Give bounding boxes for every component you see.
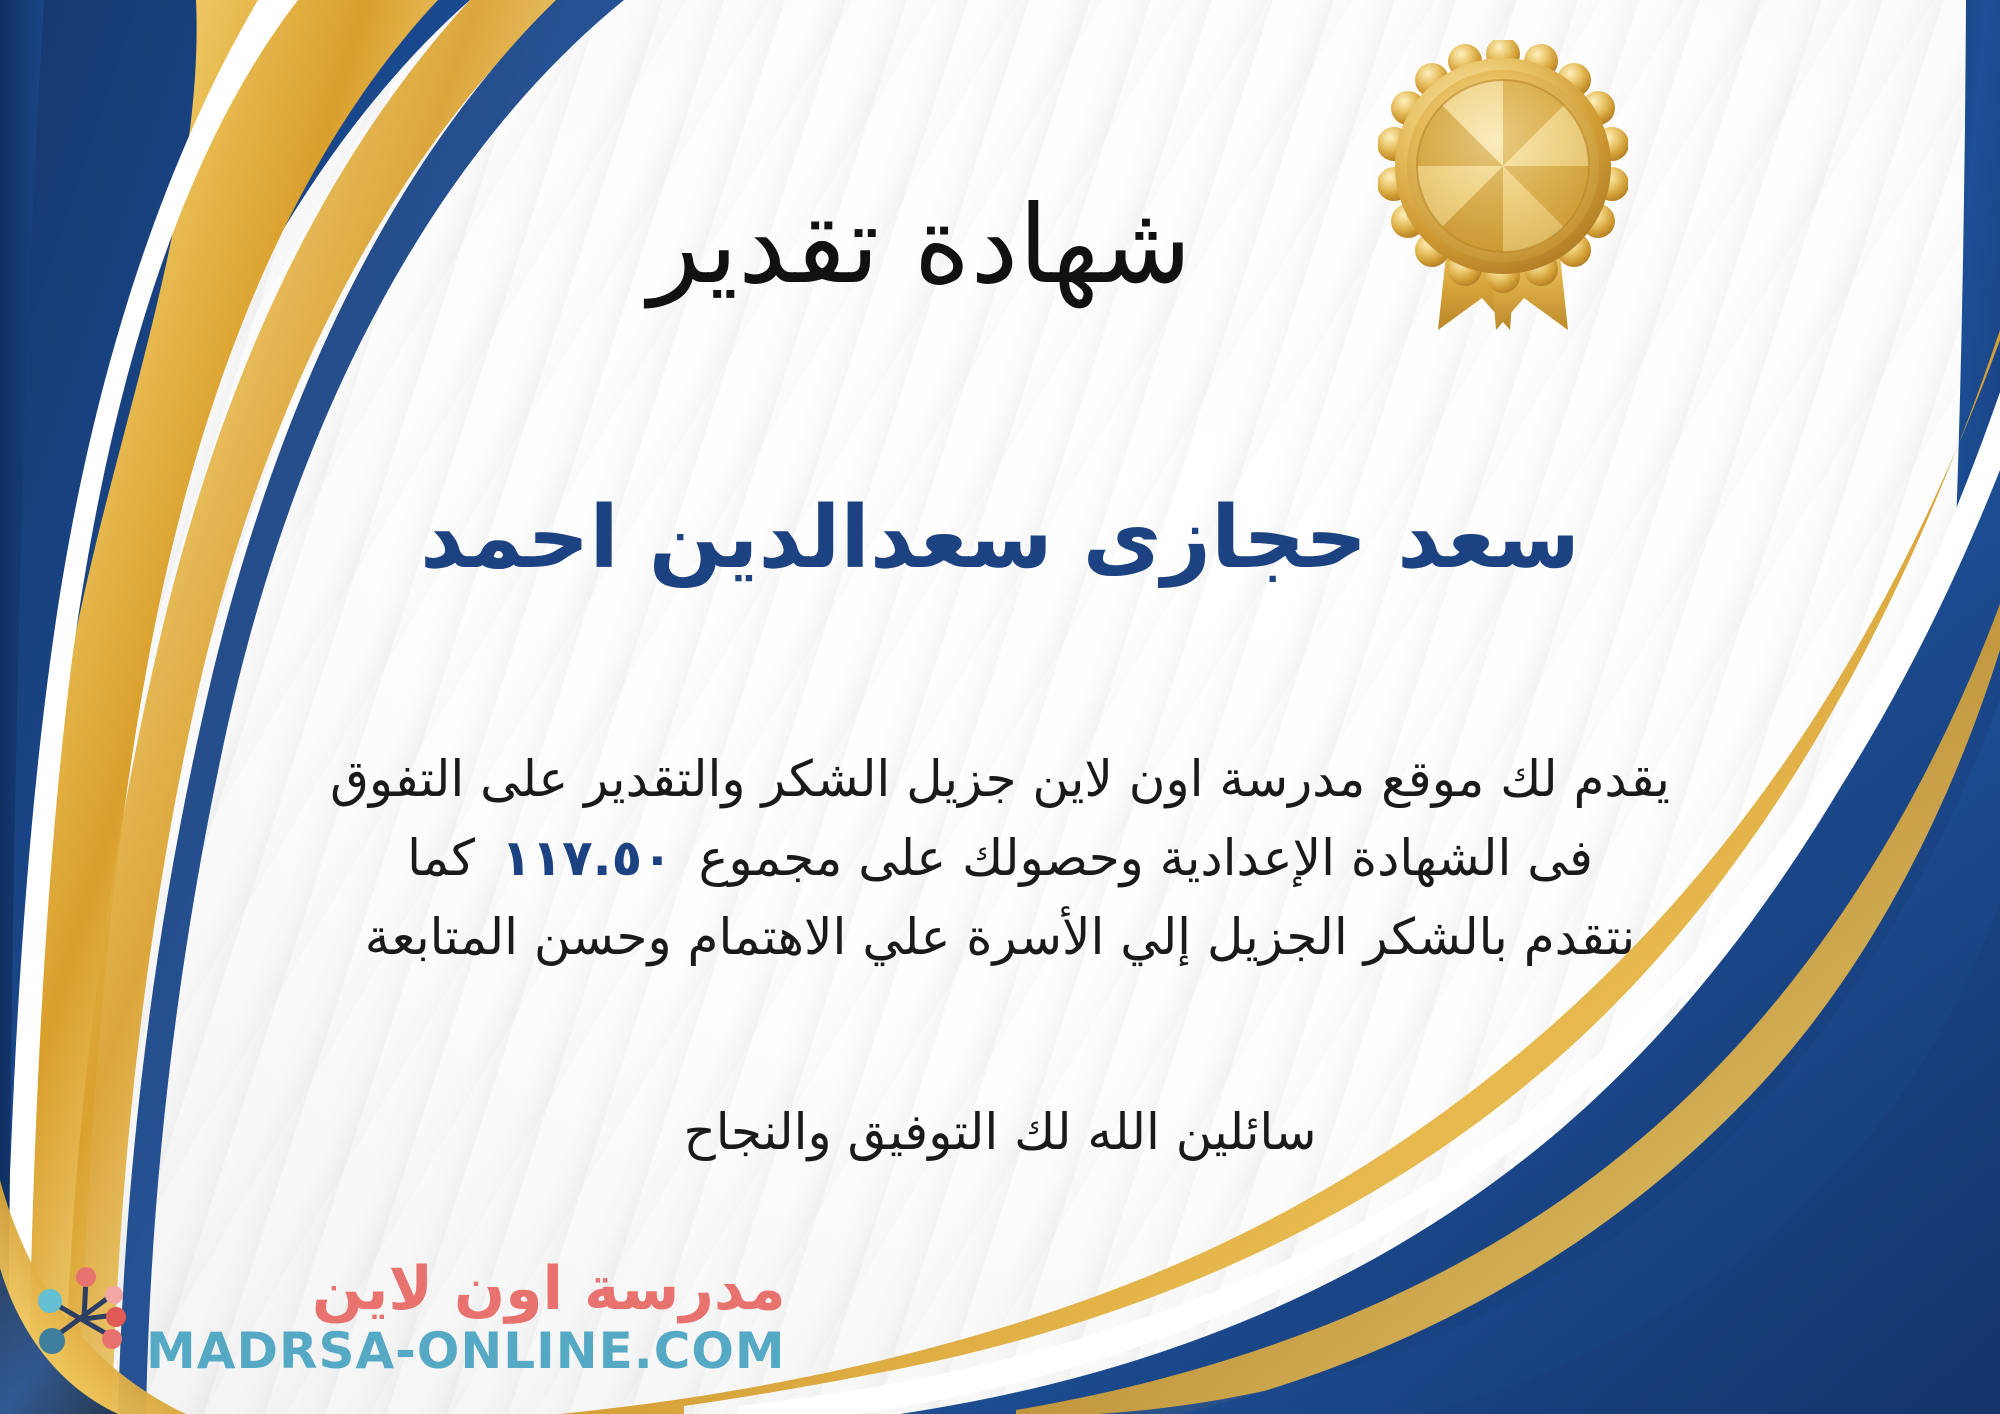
gold-medal-rosette-icon: [1378, 40, 1628, 330]
brand-text: مدرسة اون لاين MADRSA-ONLINE.COM: [146, 1259, 786, 1378]
brand-name-arabic: مدرسة اون لاين: [312, 1259, 786, 1319]
certificate-title: شهادة تقدير: [0, 182, 2000, 309]
brand-logo[interactable]: مدرسة اون لاين MADRSA-ONLINE.COM: [28, 1259, 786, 1378]
body-line-3: نتقدم بالشكر الجزيل إلي الأسرة علي الاهت…: [58, 898, 1942, 977]
body-line-2-suffix: كما: [407, 829, 475, 887]
certificate-body: يقدم لك موقع مدرسة اون لاين جزيل الشكر و…: [58, 740, 1942, 977]
network-nodes-icon: [28, 1265, 136, 1373]
certificate-canvas: شهادة تقدير سعد حجازى سعدالدين احمد يقدم…: [0, 0, 2000, 1414]
body-line-2-prefix: فى الشهادة الإعدادية وحصولك على مجموع: [699, 829, 1593, 887]
recipient-name: سعد حجازى سعدالدين احمد: [0, 485, 2000, 593]
brand-website-url[interactable]: MADRSA-ONLINE.COM: [146, 1325, 786, 1378]
body-line-1: يقدم لك موقع مدرسة اون لاين جزيل الشكر و…: [58, 740, 1942, 819]
total-score-value: ١١٧.٥٠: [475, 829, 699, 887]
closing-wish: سائلين الله لك التوفيق والنجاح: [0, 1095, 2000, 1170]
body-line-2: فى الشهادة الإعدادية وحصولك على مجموع١١٧…: [58, 819, 1942, 898]
certificate-content: شهادة تقدير سعد حجازى سعدالدين احمد يقدم…: [0, 0, 2000, 1414]
